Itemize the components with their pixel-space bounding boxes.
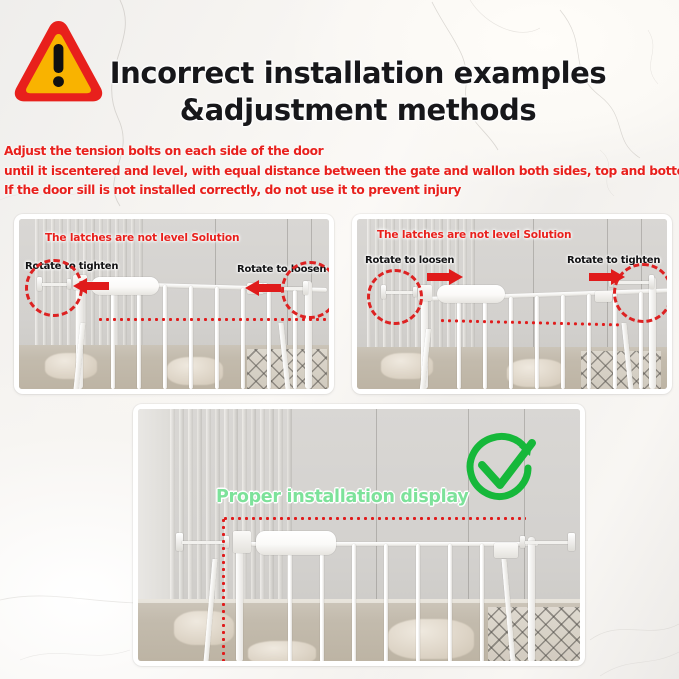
- label-rotate-to-loosen-left: Rotate to loosen: [365, 255, 454, 266]
- photo-bottom: Proper installation display: [138, 409, 580, 661]
- arrow-left-panel-right: [245, 280, 281, 296]
- green-check-circle-icon: [462, 431, 540, 509]
- label-proper-installation: Proper installation display: [216, 487, 468, 507]
- arrow-left-panel-left: [73, 278, 109, 294]
- tension-bolt-right: [520, 533, 580, 551]
- highlight-circle-left: [367, 269, 423, 325]
- panel-title-top-left: The latches are not level Solution: [45, 232, 239, 244]
- photo-top-right: The latches are not level Solution Rotat…: [357, 219, 667, 389]
- photo-top-left: The latches are not level Solution Rotat…: [19, 219, 329, 389]
- title-line-1: Incorrect installation examples: [108, 55, 608, 92]
- scene-top-right: The latches are not level Solution Rotat…: [357, 219, 667, 389]
- level-reference-line: [97, 318, 327, 321]
- arrow-right-panel-left: [427, 269, 463, 285]
- panel-top-right: The latches are not level Solution Rotat…: [352, 214, 672, 394]
- panel-title-top-right: The latches are not level Solution: [377, 229, 571, 241]
- level-reference-line-horizontal: [222, 517, 526, 520]
- page-title: Incorrect installation examples &adjustm…: [108, 55, 608, 129]
- tension-bolt-left: [176, 533, 238, 551]
- instruction-line-2: until it iscentered and level, with equa…: [4, 162, 679, 182]
- poster-root: Incorrect installation examples &adjustm…: [0, 0, 679, 679]
- title-line-2: &adjustment methods: [108, 92, 608, 129]
- panel-bottom: Proper installation display: [133, 404, 585, 666]
- panel-top-left: The latches are not level Solution Rotat…: [14, 214, 334, 394]
- scene-bottom: Proper installation display: [138, 409, 580, 661]
- instructions-text: Adjust the tension bolts on each side of…: [4, 142, 679, 201]
- vertical-reference-line: [222, 517, 225, 661]
- arrow-right-panel-right: [589, 269, 625, 285]
- instruction-line-3: If the door sill is not installed correc…: [4, 181, 679, 201]
- scene-top-left: The latches are not level Solution Rotat…: [19, 219, 329, 389]
- warning-triangle-icon: [12, 17, 105, 105]
- instruction-line-1: Adjust the tension bolts on each side of…: [4, 142, 679, 162]
